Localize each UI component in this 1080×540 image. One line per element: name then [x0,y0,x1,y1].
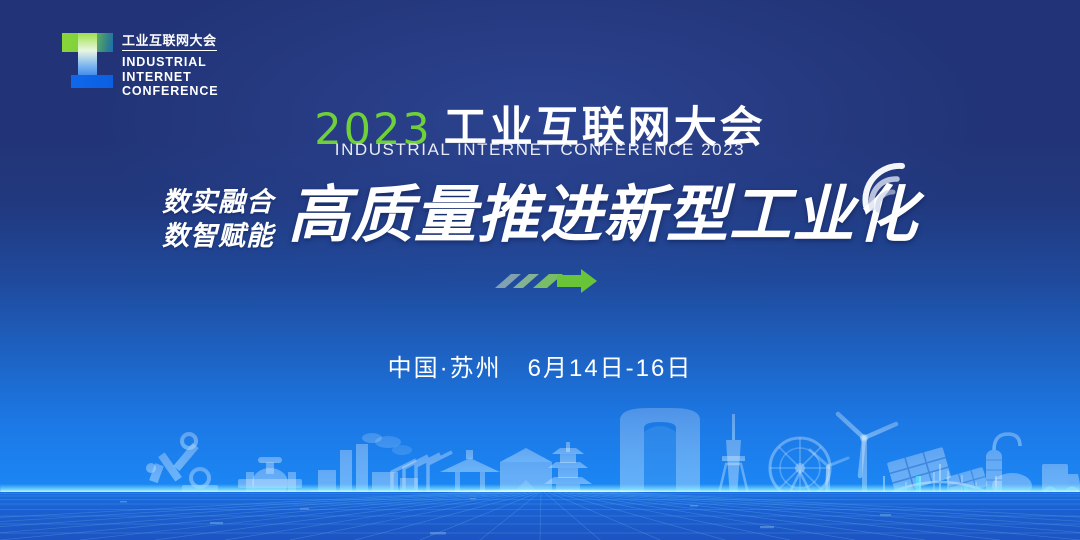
logo-chinese-name: 工业互联网大会 [122,33,217,51]
slogan-main-text: 高质量推进新型工业化 [288,178,918,254]
event-date: 6月14日-16日 [528,355,693,382]
event-location: 中国·苏州 [388,355,502,382]
event-info: 中国·苏州6月14日-16日 [0,348,1080,383]
title-subtitle: INDUSTRIAL INTERNET CONFERENCE 2023 [0,140,1080,160]
perspective-grid [0,492,1080,540]
city-skyline [0,380,1080,540]
logo-english-name: INDUSTRIAL INTERNET CONFERENCE [122,55,219,99]
slogan-left-line-2: 数智赋能 [162,219,274,253]
conference-poster: 工业互联网大会 INDUSTRIAL INTERNET CONFERENCE 2… [0,0,1080,540]
slogan-block: 数实融合 数智赋能 高质量推进新型工业化 [0,178,1080,288]
logo-mark-icon [57,30,113,88]
slogan-secondary: 数实融合 数智赋能 [162,185,274,253]
slogan-left-line-1: 数实融合 [162,185,274,219]
conference-logo: 工业互联网大会 INDUSTRIAL INTERNET CONFERENCE [57,30,219,99]
logo-text: 工业互联网大会 INDUSTRIAL INTERNET CONFERENCE [122,30,219,99]
logo-en-line-1: INDUSTRIAL [122,55,219,70]
perspective-ground [0,492,1080,540]
slogan-main-label: 高质量推进新型工业化 [288,181,918,250]
logo-en-line-2: INTERNET [122,70,219,85]
